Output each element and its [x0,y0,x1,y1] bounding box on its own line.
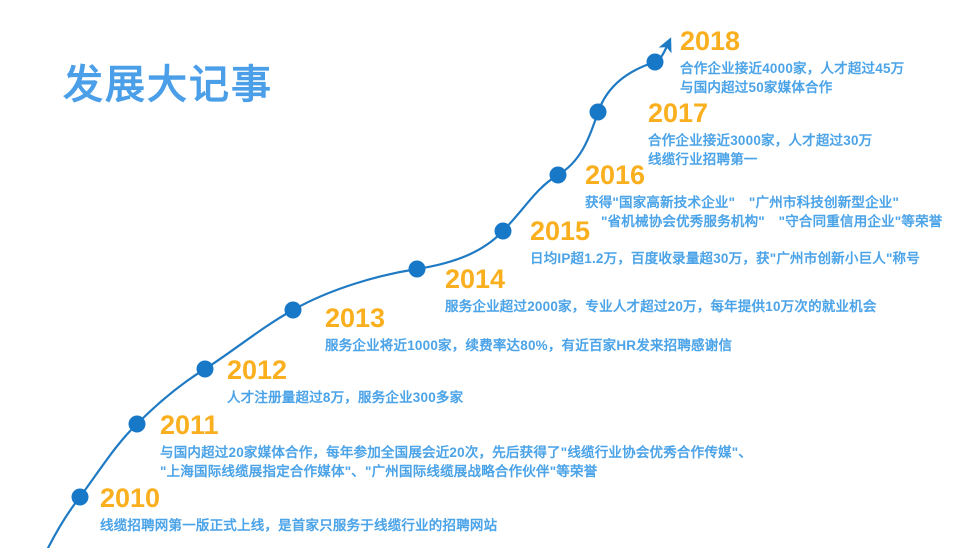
milestone-2014[interactable]: 2014服务企业超过2000家，专业人才超过20万，每年提供10万次的就业机会 [445,266,877,316]
description-line-2013-1: 服务企业将近1000家，续费率达80%，有近百家HR发来招聘感谢信 [325,336,732,355]
timeline-dot-2014[interactable] [409,261,426,278]
description-block-2012: 人才注册量超过8万，服务企业300多家 [227,388,463,407]
description-line-2011-1: 与国内超过20家媒体合作，每年参加全国展会近20次，先后获得了"线缆行业协会优秀… [160,443,752,462]
description-block-2013: 服务企业将近1000家，续费率达80%，有近百家HR发来招聘感谢信 [325,336,732,355]
timeline-dot-2016[interactable] [550,167,567,184]
timeline-dot-2010[interactable] [72,489,89,506]
description-block-2016: 获得"国家高新技术企业" "广州市科技创新型企业""省机械协会优秀服务机构" "… [585,193,943,231]
milestone-2010[interactable]: 2010线缆招聘网第一版正式上线，是首家只服务于线缆行业的招聘网站 [100,485,497,535]
timeline-dot-2017[interactable] [590,104,607,121]
year-label-2018: 2018 [680,28,904,55]
timeline-dot-2018[interactable] [647,54,664,71]
description-line-2017-2: 线缆行业招聘第一 [648,150,872,169]
year-label-2011: 2011 [160,412,752,439]
description-block-2018: 合作企业接近4000家，人才超过45万与国内超过50家媒体合作 [680,59,904,97]
timeline-dot-2015[interactable] [495,223,512,240]
description-line-2017-1: 合作企业接近3000家，人才超过30万 [648,131,872,150]
description-line-2016-1: 获得"国家高新技术企业" "广州市科技创新型企业" [585,193,943,212]
description-line-2011-2: "上海国际线缆展指定合作媒体"、"广州国际线缆展战略合作伙伴"等荣誉 [160,462,752,481]
milestone-2011[interactable]: 2011与国内超过20家媒体合作，每年参加全国展会近20次，先后获得了"线缆行业… [160,412,752,481]
description-line-2010-1: 线缆招聘网第一版正式上线，是首家只服务于线缆行业的招聘网站 [100,516,497,535]
page-title: 发展大记事 [63,52,273,110]
milestone-2018[interactable]: 2018合作企业接近4000家，人才超过45万与国内超过50家媒体合作 [680,28,904,97]
year-label-2010: 2010 [100,485,497,512]
description-block-2017: 合作企业接近3000家，人才超过30万线缆行业招聘第一 [648,131,872,169]
milestone-2012[interactable]: 2012人才注册量超过8万，服务企业300多家 [227,357,463,407]
description-line-2016-2: "省机械协会优秀服务机构" "守合同重信用企业"等荣誉 [585,212,943,231]
year-label-2012: 2012 [227,357,463,384]
timeline-dot-2011[interactable] [129,416,146,433]
timeline-infographic: 发展大记事 2010线缆招聘网第一版正式上线，是首家只服务于线缆行业的招聘网站2… [0,0,956,548]
year-label-2014: 2014 [445,266,877,293]
description-line-2018-1: 合作企业接近4000家，人才超过45万 [680,59,904,78]
description-line-2015-1: 日均IP超1.2万，百度收录量超30万，获"广州市创新小巨人"称号 [530,249,920,268]
description-block-2015: 日均IP超1.2万，百度收录量超30万，获"广州市创新小巨人"称号 [530,249,920,268]
milestone-2016[interactable]: 2016获得"国家高新技术企业" "广州市科技创新型企业""省机械协会优秀服务机… [585,162,943,231]
year-label-2017: 2017 [648,100,872,127]
description-line-2012-1: 人才注册量超过8万，服务企业300多家 [227,388,463,407]
description-line-2014-1: 服务企业超过2000家，专业人才超过20万，每年提供10万次的就业机会 [445,297,877,316]
description-block-2014: 服务企业超过2000家，专业人才超过20万，每年提供10万次的就业机会 [445,297,877,316]
milestone-2017[interactable]: 2017合作企业接近3000家，人才超过30万线缆行业招聘第一 [648,100,872,169]
timeline-dot-2012[interactable] [197,361,214,378]
timeline-dot-2013[interactable] [285,302,302,319]
description-block-2011: 与国内超过20家媒体合作，每年参加全国展会近20次，先后获得了"线缆行业协会优秀… [160,443,752,481]
description-line-2018-2: 与国内超过50家媒体合作 [680,78,904,97]
description-block-2010: 线缆招聘网第一版正式上线，是首家只服务于线缆行业的招聘网站 [100,516,497,535]
